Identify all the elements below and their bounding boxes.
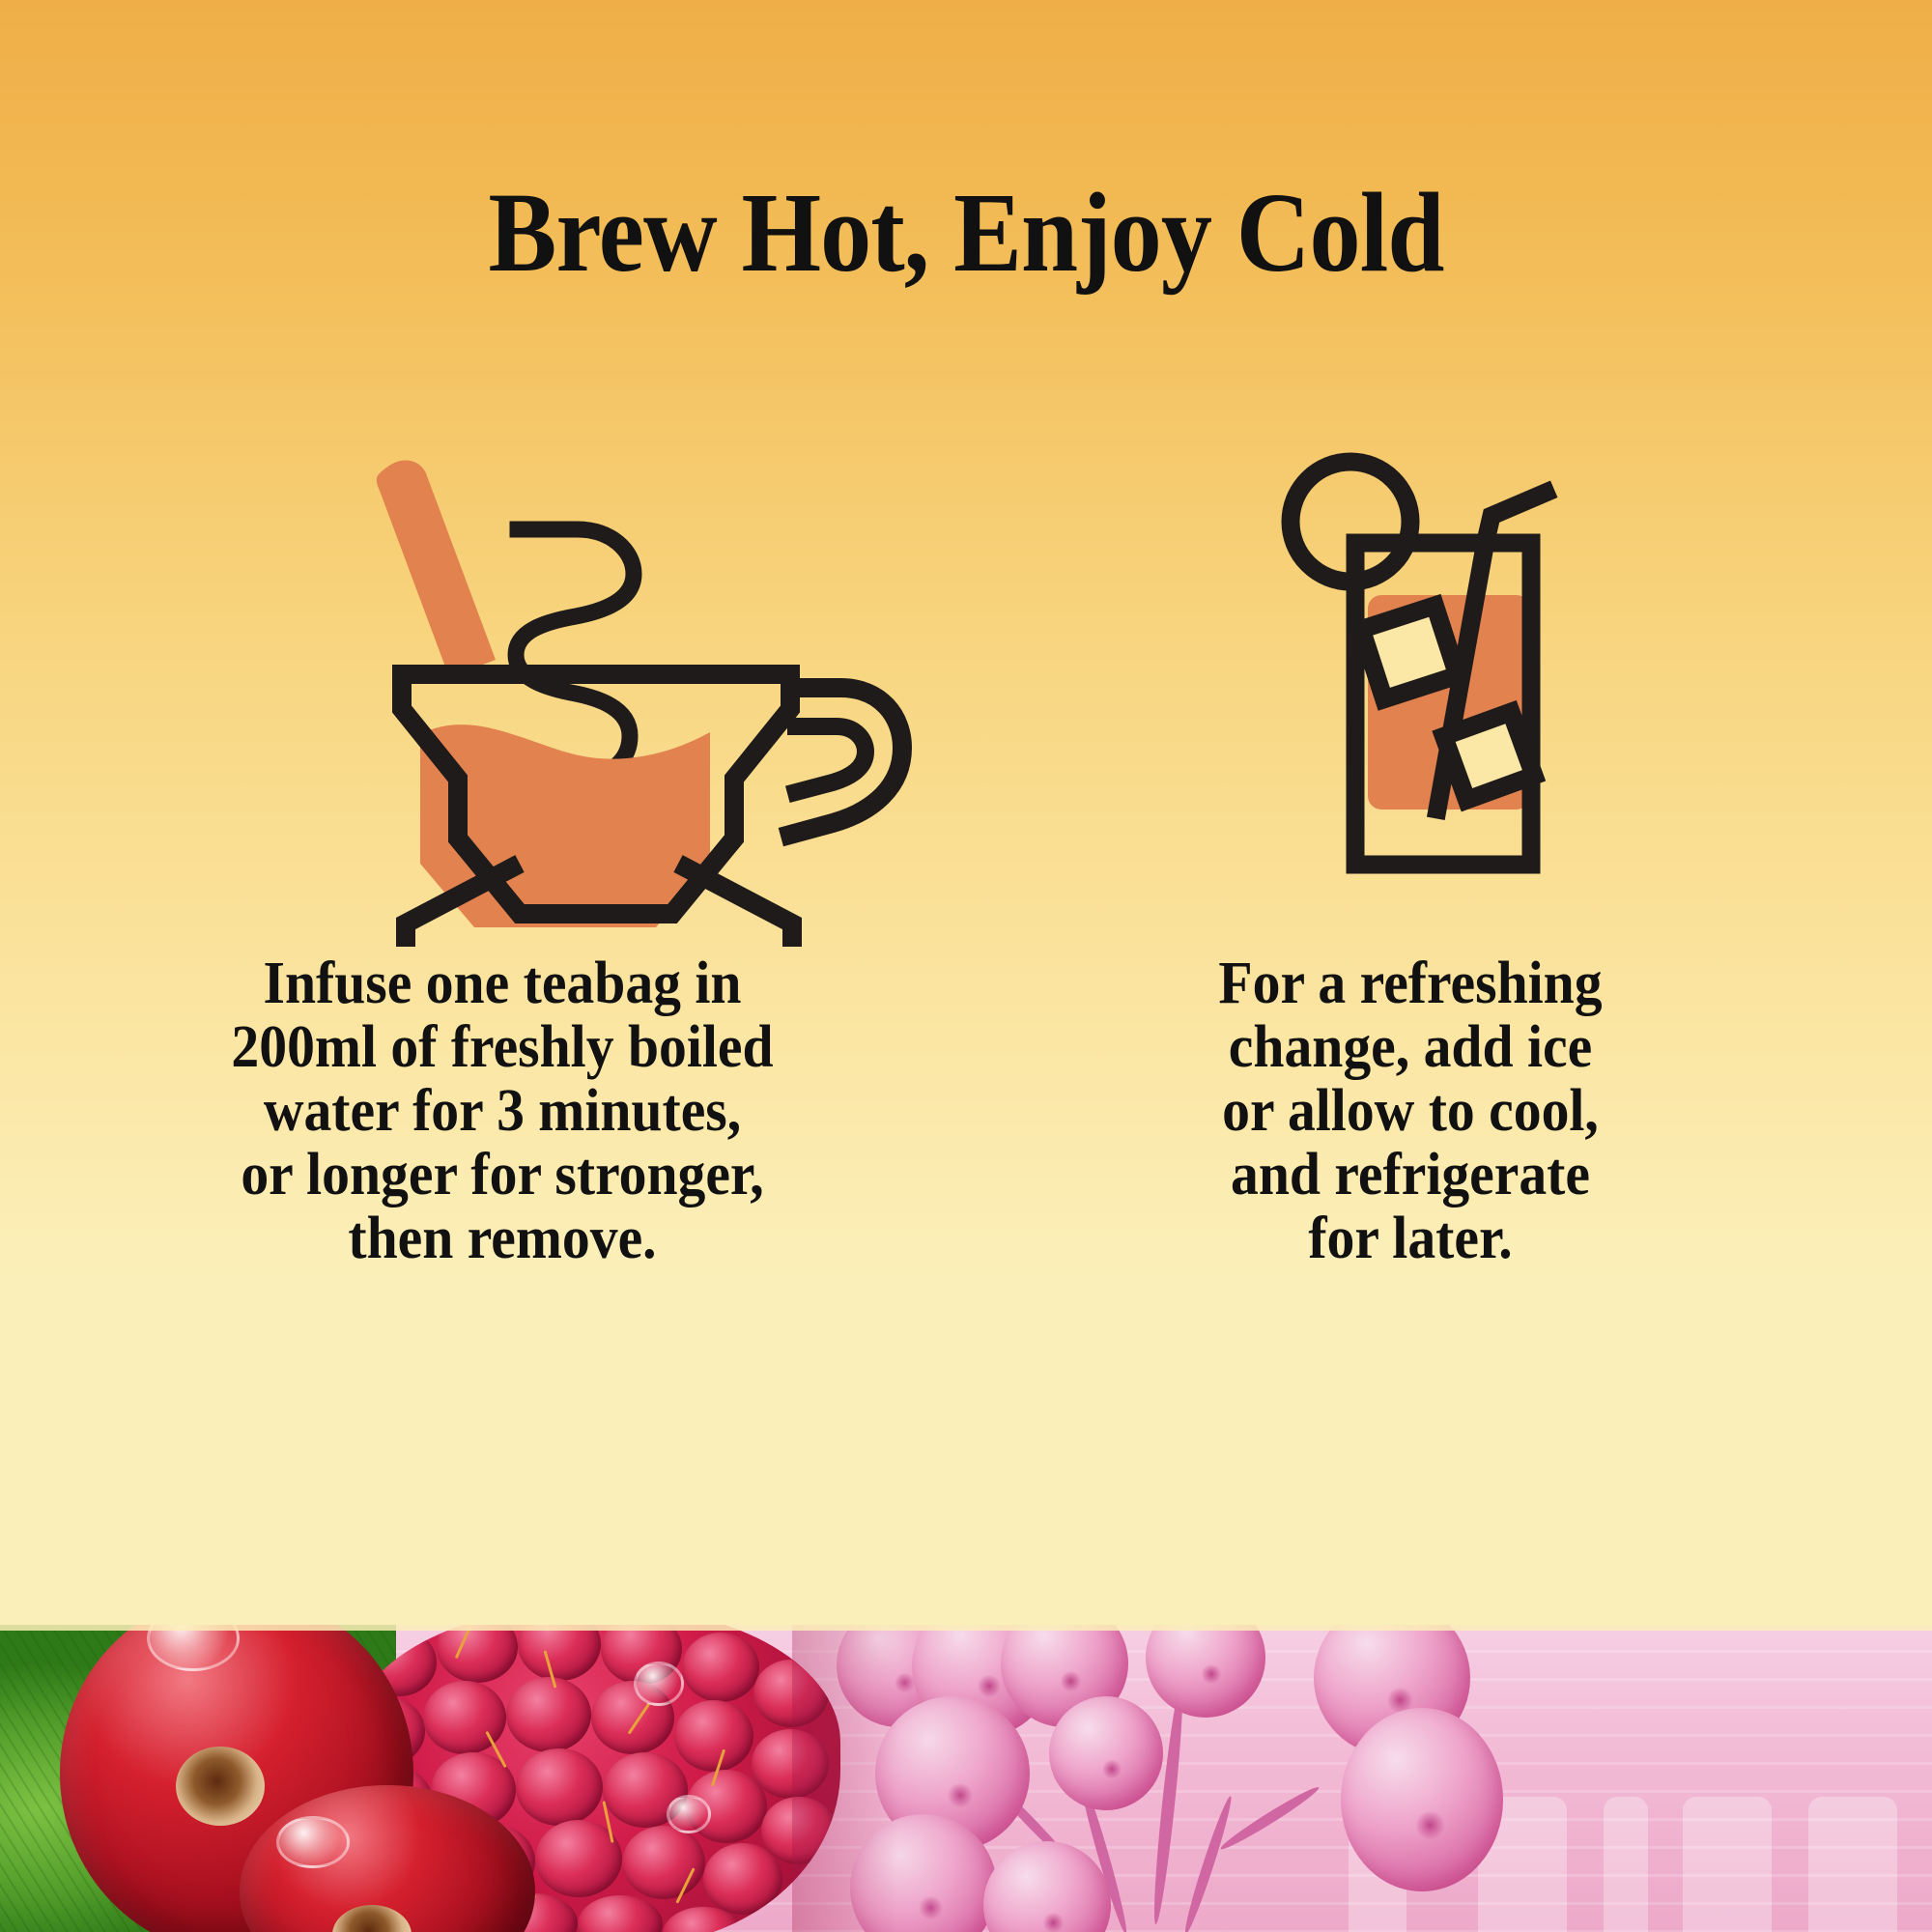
ghost-letter-3 [1683, 1797, 1772, 1932]
caption-hot: Infuse one teabag in 200ml of freshly bo… [89, 952, 916, 1270]
cranberry-calyx [176, 1747, 265, 1826]
poster-root: Brew Hot, Enjoy Cold [0, 0, 1932, 1932]
currant-berry [1049, 1696, 1163, 1810]
water-droplet [276, 1816, 350, 1868]
currant-berry [1341, 1708, 1503, 1891]
ghost-letter-4 [1808, 1797, 1897, 1932]
iced-drink-glass-icon [985, 0, 1835, 947]
hot-teacup-icon [58, 0, 947, 947]
band-top-edge [0, 1625, 1932, 1631]
fruit-photo-band [0, 1625, 1932, 1932]
caption-cold: For a refreshing change, add ice or allo… [1015, 952, 1805, 1270]
photo-pink-blend [792, 1625, 985, 1932]
ghost-letter-2 [1604, 1797, 1648, 1932]
